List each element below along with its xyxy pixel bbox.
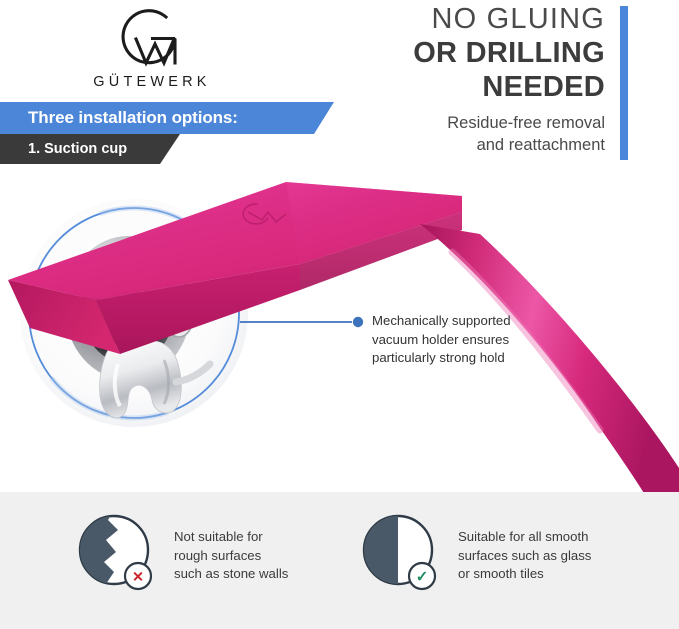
headline-subline-2: and reattachment [285, 134, 605, 156]
callout-line-2: vacuum holder ensures [372, 331, 572, 350]
headline-line-1: NO GLUING [285, 2, 605, 36]
callout-dot [353, 317, 363, 327]
rough-line-1: Not suitable for [174, 528, 359, 547]
callout-annotation: Mechanically supported vacuum holder ens… [372, 312, 572, 368]
installation-options-banner: Three installation options: [0, 102, 334, 134]
smooth-surface-circle-icon: ✓ [362, 510, 440, 596]
surface-item-rough: ✕ Not suitable for rough surfaces such a… [78, 510, 359, 596]
infographic-page: GÜTEWERK Three installation options: 1. … [0, 0, 679, 629]
headline-line-2: OR DRILLING [285, 36, 605, 70]
surface-item-smooth: ✓ Suitable for all smooth surfaces such … [362, 510, 643, 596]
hero-product-photo [0, 168, 679, 492]
check-badge-icon: ✓ [416, 569, 429, 586]
installation-options-label: Three installation options: [0, 108, 238, 128]
g-w-monogram-logo-icon [104, 8, 196, 70]
rough-line-3: such as stone walls [174, 565, 359, 584]
hero-illustration [0, 168, 679, 492]
suction-cup-step-label: 1. Suction cup [0, 141, 127, 157]
rough-line-2: rough surfaces [174, 547, 359, 566]
brand-logo-block: GÜTEWERK [60, 8, 240, 90]
brand-name: GÜTEWERK [60, 74, 240, 90]
suction-cup-step-banner: 1. Suction cup [0, 134, 180, 164]
callout-line-1: Mechanically supported [372, 312, 572, 331]
rough-surface-text: Not suitable for rough surfaces such as … [174, 528, 359, 584]
headline-line-3: NEEDED [285, 70, 605, 104]
surface-suitability-band: ✕ Not suitable for rough surfaces such a… [0, 492, 679, 629]
callout-line-3: particularly strong hold [372, 349, 572, 368]
smooth-surface-text: Suitable for all smooth surfaces such as… [458, 528, 643, 584]
headline-block: NO GLUING OR DRILLING NEEDED Residue-fre… [285, 2, 605, 156]
smooth-line-3: or smooth tiles [458, 565, 643, 584]
smooth-line-2: surfaces such as glass [458, 547, 643, 566]
smooth-line-1: Suitable for all smooth [458, 528, 643, 547]
rough-surface-circle-icon: ✕ [78, 510, 156, 596]
headline-subline-1: Residue-free removal [285, 112, 605, 134]
cross-badge-icon: ✕ [132, 569, 144, 585]
headline-accent-bar [620, 6, 628, 160]
